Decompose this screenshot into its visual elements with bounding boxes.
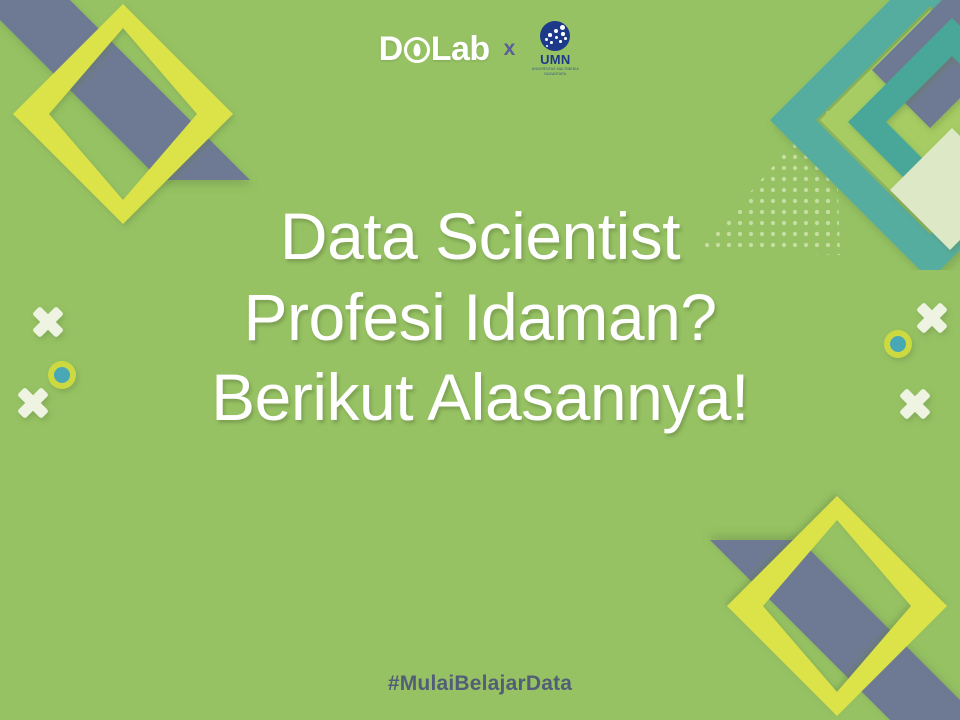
dot-grid-triangle: [120, 465, 260, 625]
dqlab-logo-letter-d: D: [379, 32, 403, 66]
umn-globe-icon: [540, 21, 570, 51]
logo-lockup: D Lab x UMN UNIVERSITAS MULTIMEDIA NUSAN…: [0, 18, 960, 80]
umn-wordmark: UMN: [540, 53, 571, 66]
hashtag-footer: #MulaiBelajarData: [0, 672, 960, 696]
dqlab-leaf-circle-icon: [404, 37, 430, 63]
cream-chevron: [0, 470, 70, 592]
blue-gray-chevron: [0, 592, 88, 720]
dqlab-logo: D Lab: [379, 32, 490, 66]
headline-line-1: Data Scientist: [0, 196, 960, 277]
umn-logo: UMN UNIVERSITAS MULTIMEDIA NUSANTARA: [529, 21, 581, 77]
teal-diamond-frame-inner: [0, 494, 112, 702]
logo-separator-x: x: [504, 38, 516, 59]
umn-subtitle: UNIVERSITAS MULTIMEDIA NUSANTARA: [529, 67, 581, 77]
social-card: D Lab x UMN UNIVERSITAS MULTIMEDIA NUSAN…: [0, 0, 960, 720]
headline-line-3: Berikut Alasannya!: [0, 357, 960, 438]
headline-line-2: Profesi Idaman?: [0, 277, 960, 358]
headline: Data Scientist Profesi Idaman? Berikut A…: [0, 196, 960, 438]
dqlab-logo-letters-lab: Lab: [431, 32, 490, 66]
